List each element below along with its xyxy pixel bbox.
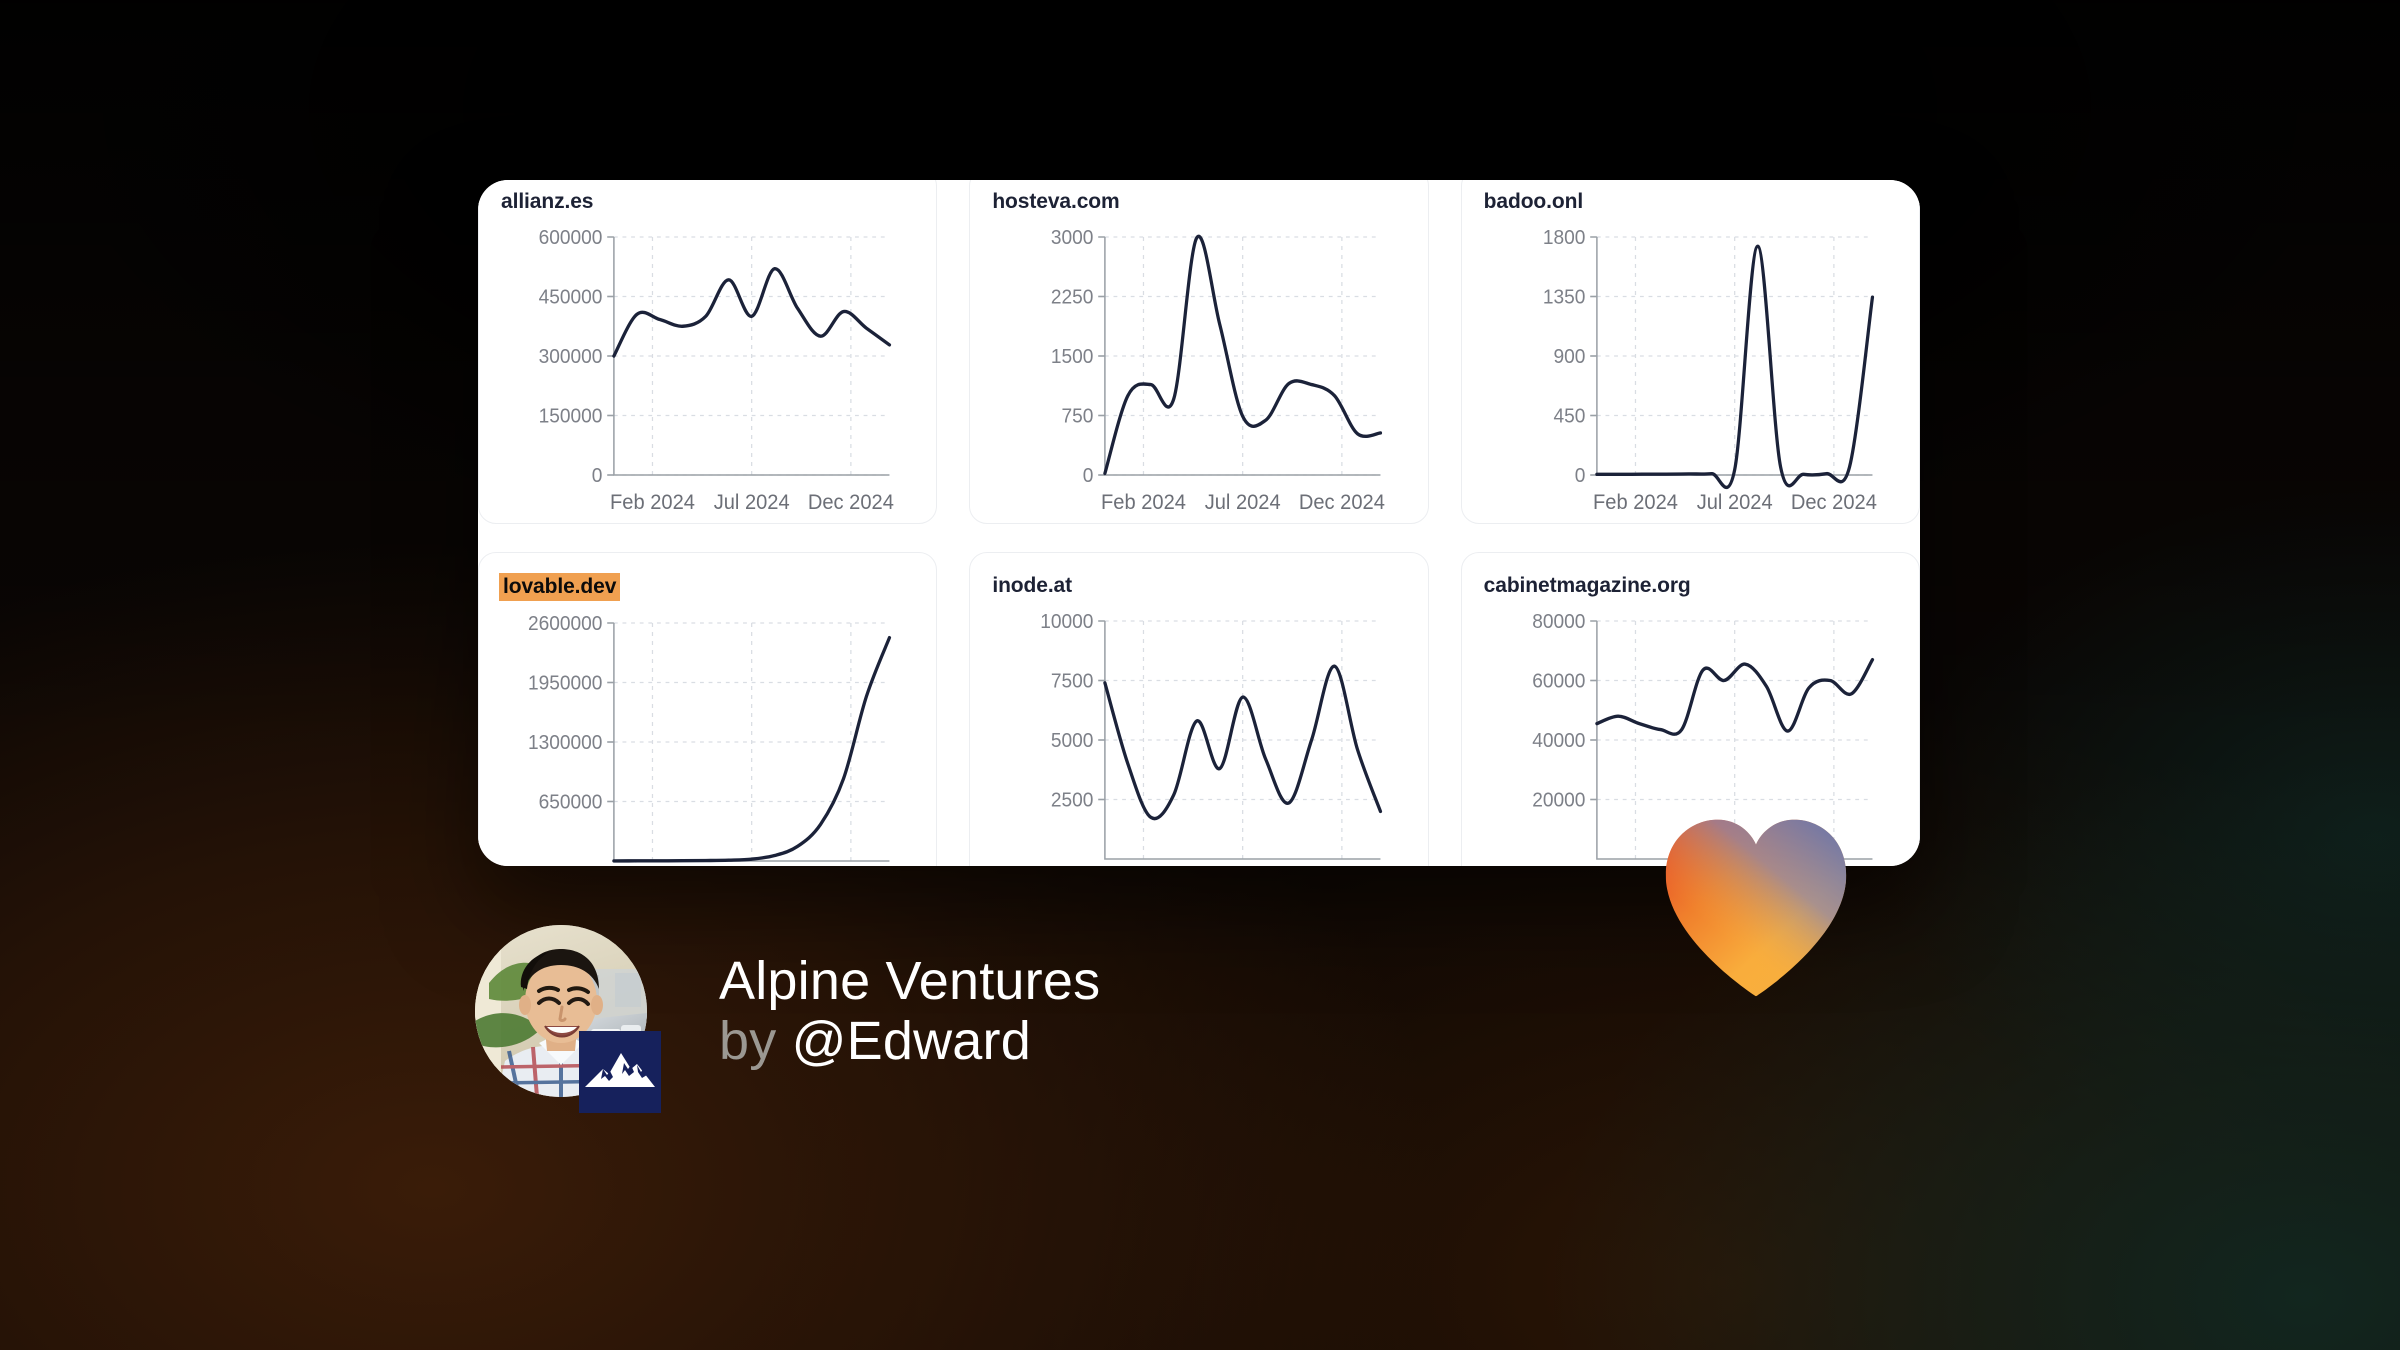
- y-axis-tick: 2600000: [528, 613, 603, 635]
- chart-title: cabinetmagazine.org: [1484, 573, 1691, 599]
- y-axis-tick: 1800: [1543, 227, 1586, 249]
- chart-grid: allianz.esFeb 2024Jul 2024Dec 2024600000…: [478, 180, 1920, 866]
- x-axis-tick: Dec 2024: [808, 491, 894, 515]
- y-axis-tick: 150000: [539, 405, 603, 427]
- x-axis-tick: Jul 2024: [1696, 491, 1772, 515]
- y-axis-tick: 0: [1083, 465, 1094, 487]
- x-axis-tick: Feb 2024: [610, 491, 695, 515]
- y-axis-tick: 1950000: [528, 672, 603, 694]
- y-axis-tick: 1350: [1543, 286, 1586, 308]
- chart-title: lovable.dev: [499, 573, 620, 601]
- y-axis-tick: 900: [1553, 346, 1585, 368]
- chart-card[interactable]: lovable.devFeb 2024Jul 2024Dec 202426000…: [478, 552, 937, 866]
- footer-identity: Alpine Ventures by @Edward: [475, 925, 1100, 1097]
- line-chart: Feb 2024Jul 2024Dec 2024180013509004500: [1484, 221, 1897, 521]
- page-title: Alpine Ventures: [719, 951, 1100, 1011]
- y-axis-tick: 5000: [1051, 730, 1094, 752]
- x-axis-tick: Feb 2024: [1593, 491, 1678, 515]
- y-axis-tick: 10000: [1041, 611, 1094, 633]
- y-axis-tick: 60000: [1532, 670, 1585, 692]
- heart-icon: [1660, 812, 1852, 1000]
- chart-title: badoo.onl: [1484, 189, 1583, 215]
- y-axis-tick: 0: [592, 465, 603, 487]
- y-axis-tick: 80000: [1532, 611, 1585, 633]
- y-axis-tick: 2500: [1051, 789, 1094, 811]
- y-axis-tick: 7500: [1051, 670, 1094, 692]
- chart-card[interactable]: allianz.esFeb 2024Jul 2024Dec 2024600000…: [478, 180, 937, 524]
- chart-title: allianz.es: [501, 189, 593, 215]
- chart-card[interactable]: hosteva.comFeb 2024Jul 2024Dec 202430002…: [969, 180, 1428, 524]
- y-axis-tick: 650000: [539, 791, 603, 813]
- chart-title: inode.at: [992, 573, 1072, 599]
- chart-card[interactable]: badoo.onlFeb 2024Jul 2024Dec 20241800135…: [1461, 180, 1920, 524]
- line-chart: Feb 2024Jul 2024Dec 20242600000195000013…: [501, 607, 914, 866]
- y-axis-tick: 1300000: [528, 732, 603, 754]
- avatar: [475, 925, 647, 1097]
- x-axis-tick: Jul 2024: [714, 491, 790, 515]
- byline-prefix: by: [719, 1011, 776, 1071]
- y-axis-tick: 1500: [1051, 346, 1094, 368]
- line-chart: Feb 2024Jul 2024Dec 20243000225015007500: [992, 221, 1405, 521]
- x-axis-tick: Feb 2024: [1101, 491, 1186, 515]
- y-axis-tick: 2250: [1051, 286, 1094, 308]
- byline: by @Edward: [719, 1011, 1100, 1071]
- y-axis-tick: 3000: [1051, 227, 1094, 249]
- y-axis-tick: 750: [1062, 405, 1094, 427]
- x-axis-tick: Dec 2024: [1299, 491, 1385, 515]
- dashboard-panel: allianz.esFeb 2024Jul 2024Dec 2024600000…: [478, 180, 1920, 866]
- x-axis-tick: Jul 2024: [1205, 491, 1281, 515]
- y-axis-tick: 450: [1553, 405, 1585, 427]
- line-chart: Feb 2024Jul 2024Dec 20246000004500003000…: [501, 221, 914, 521]
- x-axis-tick: Dec 2024: [1791, 491, 1877, 515]
- chart-title: hosteva.com: [992, 189, 1119, 215]
- y-axis-tick: 40000: [1532, 730, 1585, 752]
- identity-text: Alpine Ventures by @Edward: [719, 951, 1100, 1072]
- y-axis-tick: 450000: [539, 286, 603, 308]
- chart-card[interactable]: inode.atFeb 2024Jul 2024Dec 202410000750…: [969, 552, 1428, 866]
- y-axis-tick: 300000: [539, 346, 603, 368]
- y-axis-tick: 0: [1574, 465, 1585, 487]
- mountain-logo: [579, 1031, 661, 1113]
- y-axis-tick: 20000: [1532, 789, 1585, 811]
- author-handle: @Edward: [792, 1011, 1031, 1071]
- y-axis-tick: 600000: [539, 227, 603, 249]
- line-chart: Feb 2024Jul 2024Dec 20241000075005000250…: [992, 605, 1405, 866]
